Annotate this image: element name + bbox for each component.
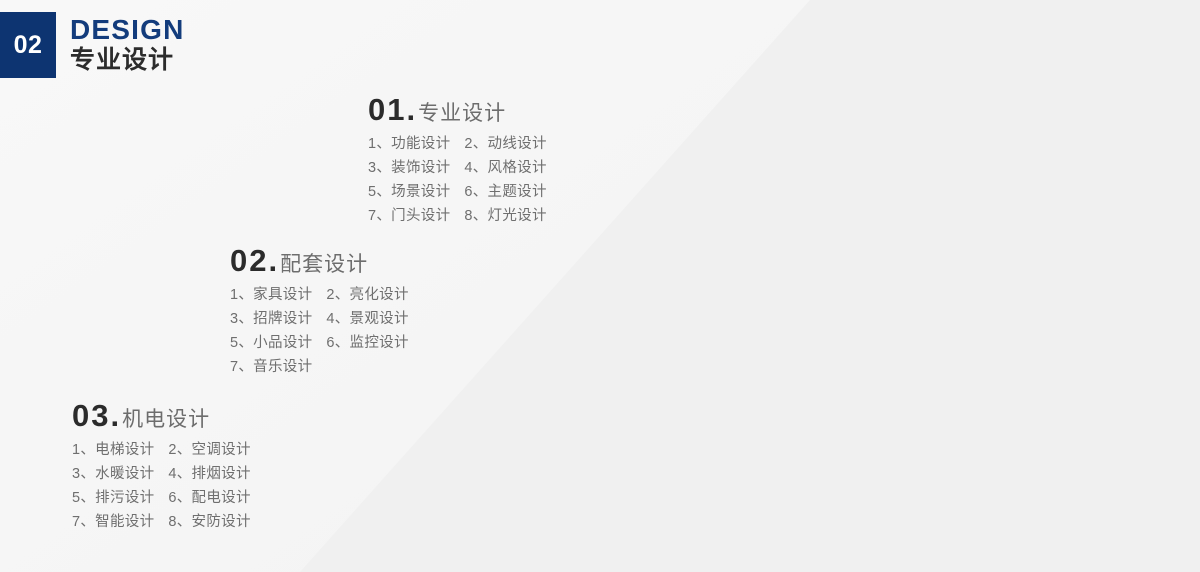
section-02-name: 配套设计: [280, 248, 368, 278]
list-item-cell: 5、场景设计: [368, 180, 450, 204]
section-03-name: 机电设计: [122, 403, 210, 433]
list-item: 1、家具设计2、亮化设计: [230, 283, 409, 307]
list-item-cell: 6、监控设计: [326, 331, 408, 355]
page-title-en: DESIGN: [70, 15, 185, 44]
section-03-title: 03. 机电设计: [72, 398, 251, 434]
list-item-cell: 3、水暖设计: [72, 462, 154, 486]
section-02: 02. 配套设计 1、家具设计2、亮化设计3、招牌设计4、景观设计5、小品设计6…: [230, 243, 409, 379]
list-item: 7、智能设计8、安防设计: [72, 510, 251, 534]
list-item-cell: 2、亮化设计: [326, 283, 408, 307]
page-title-cn: 专业设计: [70, 46, 185, 75]
list-item: 3、水暖设计4、排烟设计: [72, 462, 251, 486]
list-item: 1、功能设计2、动线设计: [368, 132, 547, 156]
section-01-list: 1、功能设计2、动线设计3、装饰设计4、风格设计5、场景设计6、主题设计7、门头…: [368, 132, 547, 228]
section-03: 03. 机电设计 1、电梯设计2、空调设计3、水暖设计4、排烟设计5、排污设计6…: [72, 398, 251, 534]
list-item-cell: 1、家具设计: [230, 283, 312, 307]
list-item-cell: 7、门头设计: [368, 204, 450, 228]
section-01-name: 专业设计: [418, 97, 506, 127]
list-item-cell: 7、智能设计: [72, 510, 154, 534]
list-item-cell: 8、灯光设计: [464, 204, 546, 228]
section-01-number: 01.: [368, 92, 417, 128]
list-item-cell: 4、风格设计: [464, 156, 546, 180]
list-item-cell: 4、景观设计: [326, 307, 408, 331]
section-01: 01. 专业设计 1、功能设计2、动线设计3、装饰设计4、风格设计5、场景设计6…: [368, 92, 547, 228]
list-item-cell: 5、小品设计: [230, 331, 312, 355]
section-number-badge: 02: [0, 12, 56, 78]
list-item-cell: 7、音乐设计: [230, 355, 312, 379]
page-header: 02 DESIGN 专业设计: [0, 12, 185, 78]
list-item-cell: 1、电梯设计: [72, 438, 154, 462]
list-item-cell: 2、空调设计: [168, 438, 250, 462]
list-item: 5、小品设计6、监控设计: [230, 331, 409, 355]
list-item: 5、场景设计6、主题设计: [368, 180, 547, 204]
section-02-number: 02.: [230, 243, 279, 279]
section-02-title: 02. 配套设计: [230, 243, 409, 279]
list-item-cell: 2、动线设计: [464, 132, 546, 156]
list-item: 5、排污设计6、配电设计: [72, 486, 251, 510]
list-item: 3、装饰设计4、风格设计: [368, 156, 547, 180]
list-item-cell: 3、招牌设计: [230, 307, 312, 331]
section-03-list: 1、电梯设计2、空调设计3、水暖设计4、排烟设计5、排污设计6、配电设计7、智能…: [72, 438, 251, 534]
list-item-cell: 4、排烟设计: [168, 462, 250, 486]
section-02-list: 1、家具设计2、亮化设计3、招牌设计4、景观设计5、小品设计6、监控设计7、音乐…: [230, 283, 409, 379]
list-item: 3、招牌设计4、景观设计: [230, 307, 409, 331]
design-slide: 02 DESIGN 专业设计 01. 专业设计 1、功能设计2、动线设计3、装饰…: [0, 0, 1200, 572]
list-item-cell: 6、配电设计: [168, 486, 250, 510]
list-item-cell: 3、装饰设计: [368, 156, 450, 180]
section-03-number: 03.: [72, 398, 121, 434]
list-item: 7、门头设计8、灯光设计: [368, 204, 547, 228]
list-item-cell: 1、功能设计: [368, 132, 450, 156]
section-01-title: 01. 专业设计: [368, 92, 547, 128]
list-item: 1、电梯设计2、空调设计: [72, 438, 251, 462]
list-item: 7、音乐设计: [230, 355, 409, 379]
list-item-cell: 5、排污设计: [72, 486, 154, 510]
header-text-group: DESIGN 专业设计: [70, 12, 185, 78]
list-item-cell: 8、安防设计: [168, 510, 250, 534]
list-item-cell: 6、主题设计: [464, 180, 546, 204]
